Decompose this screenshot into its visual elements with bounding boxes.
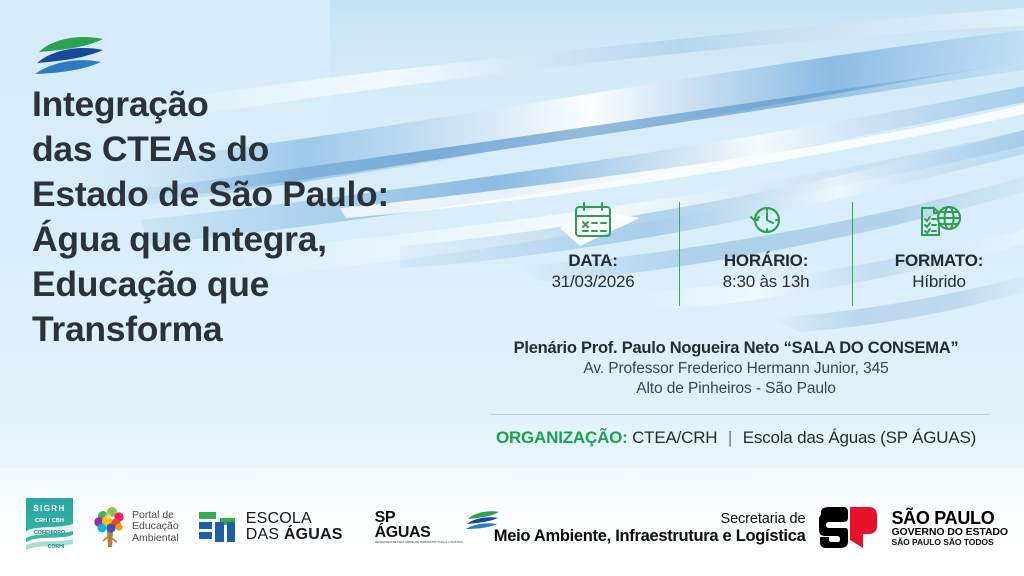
info-item-time: HORÁRIO: 8:30 às 13h	[690, 198, 842, 293]
info-divider-1	[679, 202, 680, 306]
footer-bar: SIGRH CRH / CBH COFEHIDRO CORHI	[0, 468, 1024, 576]
venue-block: Plenário Prof. Paulo Nogueira Neto “SALA…	[460, 338, 1012, 399]
secretaria-line-2: Meio Ambiente, Infraestrutura e Logístic…	[494, 527, 806, 545]
escola-das-aguas-text: ESCOLA DAS ÁGUAS	[246, 511, 343, 543]
event-banner: Integração das CTEAs do Estado de São Pa…	[0, 0, 1024, 576]
portal-educacao-ambiental-text: Portal de Educação Ambiental	[132, 510, 179, 543]
organization-label: ORGANIZAÇÃO:	[496, 428, 628, 447]
sp-aguas-line-1: SP	[375, 510, 463, 525]
footer-government-logos: Secretaria de Meio Ambiente, Infraestrut…	[494, 506, 1008, 550]
sp-aguas-text: SP ÁGUAS SECRETARIA DE MEIO AMBIENTE INF…	[375, 510, 463, 544]
sp-government-mark-icon	[817, 506, 879, 550]
info-value-date: 31/03/2026	[519, 271, 667, 293]
title-line-4: Água que Integra,	[32, 217, 532, 262]
portal-educacao-ambiental-logo: Portal de Educação Ambiental	[91, 505, 179, 549]
title-line-3: Estado de São Paulo:	[32, 172, 532, 217]
escola-line-2-bold: ÁGUAS	[284, 526, 343, 543]
escola-line-2-regular: DAS	[246, 526, 284, 543]
info-label-date: DATA:	[519, 250, 667, 271]
svg-text:CORHI: CORHI	[48, 544, 65, 550]
footer-partner-logos: SIGRH CRH / CBH COFEHIDRO CORHI	[26, 498, 501, 556]
secretaria-text: Secretaria de Meio Ambiente, Infraestrut…	[494, 511, 806, 546]
info-label-format: FORMATO:	[865, 250, 1013, 271]
escola-blocks-icon	[197, 509, 239, 545]
svg-text:CRH / CBH: CRH / CBH	[35, 518, 64, 524]
organization-separator: |	[722, 428, 738, 447]
event-info-strip: DATA: 31/03/2026 HORÁRIO: 8:30 às 13h	[520, 198, 1012, 306]
organization-second: Escola das Águas (SP ÁGUAS)	[743, 428, 976, 447]
venue-name: Plenário Prof. Paulo Nogueira Neto “SALA…	[460, 338, 1012, 359]
title-line-5: Educação que	[32, 262, 532, 307]
clock-icon	[692, 198, 840, 244]
sao-paulo-government-text: SÃO PAULO GOVERNO DO ESTADO SÃO PAULO SÃ…	[891, 509, 1008, 548]
title-line-2: das CTEAs do	[32, 127, 532, 172]
svg-text:SIGRH: SIGRH	[33, 504, 65, 513]
info-value-time: 8:30 às 13h	[692, 271, 840, 293]
organization-block: ORGANIZAÇÃO: CTEA/CRH | Escola das Águas…	[460, 428, 1012, 448]
sp-gov-line-1: SÃO PAULO	[891, 509, 1008, 528]
sp-gov-line-3: SÃO PAULO SÃO TODOS	[891, 538, 1008, 547]
document-globe-icon	[865, 198, 1013, 244]
portal-line-2: Educação	[132, 521, 179, 532]
sp-aguas-logo: SP ÁGUAS SECRETARIA DE MEIO AMBIENTE INF…	[375, 510, 501, 544]
escola-line-1: ESCOLA	[246, 511, 343, 527]
organization-divider	[490, 414, 990, 415]
info-item-format: FORMATO: Híbrido	[863, 198, 1015, 293]
info-item-date: DATA: 31/03/2026	[517, 198, 669, 293]
sp-aguas-subtitle: SECRETARIA DE MEIO AMBIENTE INFRAESTRUTU…	[375, 542, 463, 544]
svg-text:COFEHIDRO: COFEHIDRO	[34, 530, 65, 536]
sp-aguas-wave-mark-icon	[33, 36, 107, 78]
escola-das-aguas-logo: ESCOLA DAS ÁGUAS	[197, 509, 343, 545]
calendar-icon	[519, 198, 667, 244]
info-value-format: Híbrido	[865, 271, 1013, 293]
escola-line-2: DAS ÁGUAS	[246, 527, 343, 543]
sp-aguas-line-2: ÁGUAS	[375, 525, 463, 540]
secretaria-line-1: Secretaria de	[494, 511, 806, 527]
colored-tree-icon	[91, 505, 129, 549]
organization-value: CTEA/CRH	[632, 428, 717, 447]
venue-district: Alto de Pinheiros - São Paulo	[460, 379, 1012, 399]
sigrh-logo: SIGRH CRH / CBH COFEHIDRO CORHI	[26, 498, 73, 556]
venue-address: Av. Professor Frederico Hermann Junior, …	[460, 359, 1012, 379]
event-title: Integração das CTEAs do Estado de São Pa…	[32, 82, 532, 352]
info-label-time: HORÁRIO:	[692, 250, 840, 271]
title-line-6: Transforma	[32, 307, 532, 352]
info-divider-2	[852, 202, 853, 306]
portal-line-3: Ambiental	[132, 533, 179, 544]
title-line-1: Integração	[32, 82, 532, 127]
